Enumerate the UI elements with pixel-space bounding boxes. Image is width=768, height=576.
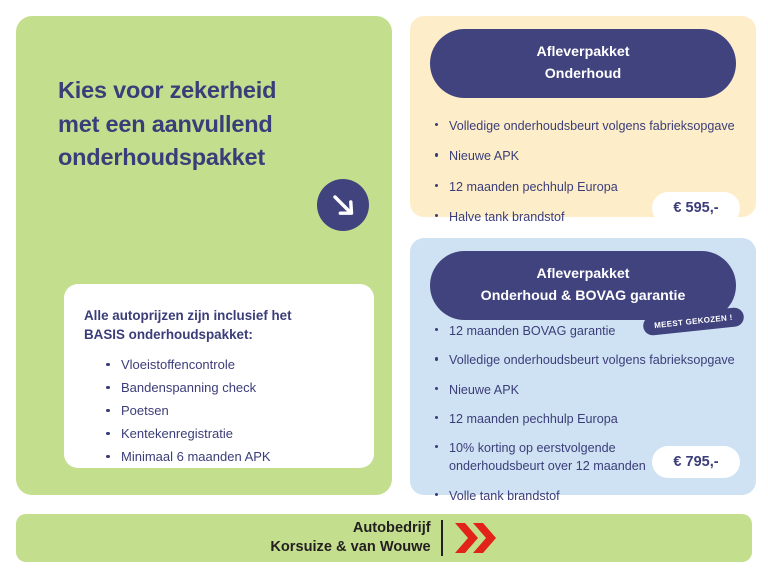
basis-feature-list: Vloeistoffencontrole Bandenspanning chec… [84, 358, 354, 463]
list-item: Volledige onderhoudsbeurt volgens fabrie… [435, 351, 742, 369]
footer-bar: Autobedrijf Korsuize & van Wouwe [16, 514, 752, 562]
hero-heading-line-1: Kies voor zekerheid [58, 77, 276, 103]
page-title: Kies voor zekerheid met een aanvullend o… [58, 74, 338, 175]
arrow-down-right-icon [317, 179, 369, 231]
list-item: Nieuwe APK [435, 381, 742, 399]
list-item: Nieuwe APK [435, 147, 742, 165]
package-feature-list-onderhoud-bovag: 12 maanden BOVAG garantie Volledige onde… [435, 322, 742, 516]
list-item: Kentekenregistratie [106, 427, 354, 440]
price-badge-onderhoud-bovag: € 795,- [652, 446, 740, 478]
hero-heading-line-2: met een aanvullend [58, 111, 273, 137]
package-card-onderhoud[interactable]: Afleverpakket Onderhoud Volledige onderh… [410, 16, 756, 217]
basis-title-line-1: Alle autoprijzen zijn inclusief het [84, 308, 292, 323]
list-item: 12 maanden pechhulp Europa [435, 410, 742, 428]
package-title-line-2: Onderhoud [440, 63, 726, 85]
list-item: Volle tank brandstof [435, 487, 742, 505]
package-title-line-2: Onderhoud & BOVAG garantie [440, 285, 726, 307]
package-title-line-1: Afleverpakket [536, 44, 629, 60]
company-name: Autobedrijf Korsuize & van Wouwe [270, 519, 440, 558]
basis-title-line-2: BASIS onderhoudspakket: [84, 327, 253, 342]
list-item: Vloeistoffencontrole [106, 358, 354, 371]
list-item: Volledige onderhoudsbeurt volgens fabrie… [435, 117, 742, 135]
package-title-line-1: Afleverpakket [536, 266, 629, 282]
company-name-line-2: Korsuize & van Wouwe [270, 539, 430, 555]
price-badge-onderhoud: € 595,- [652, 192, 740, 224]
basis-package-card: Alle autoprijzen zijn inclusief het BASI… [64, 284, 374, 468]
package-card-onderhoud-bovag[interactable]: Afleverpakket Onderhoud & BOVAG garantie… [410, 238, 756, 495]
basis-card-title: Alle autoprijzen zijn inclusief het BASI… [84, 306, 354, 345]
company-name-line-1: Autobedrijf [353, 520, 431, 536]
package-header-onderhoud: Afleverpakket Onderhoud [430, 29, 736, 98]
list-item: Bandenspanning check [106, 381, 354, 394]
list-item: Poetsen [106, 404, 354, 417]
double-chevron-right-icon [454, 520, 498, 556]
list-item: 12 maanden BOVAG garantie [435, 322, 742, 340]
list-item: Minimaal 6 maanden APK [106, 450, 354, 463]
company-logo: Autobedrijf Korsuize & van Wouwe [16, 514, 752, 562]
hero-heading-line-3: onderhoudspakket [58, 144, 265, 170]
promo-green-panel: Kies voor zekerheid met een aanvullend o… [16, 16, 392, 495]
divider [441, 520, 443, 556]
package-header-onderhoud-bovag: Afleverpakket Onderhoud & BOVAG garantie [430, 251, 736, 320]
